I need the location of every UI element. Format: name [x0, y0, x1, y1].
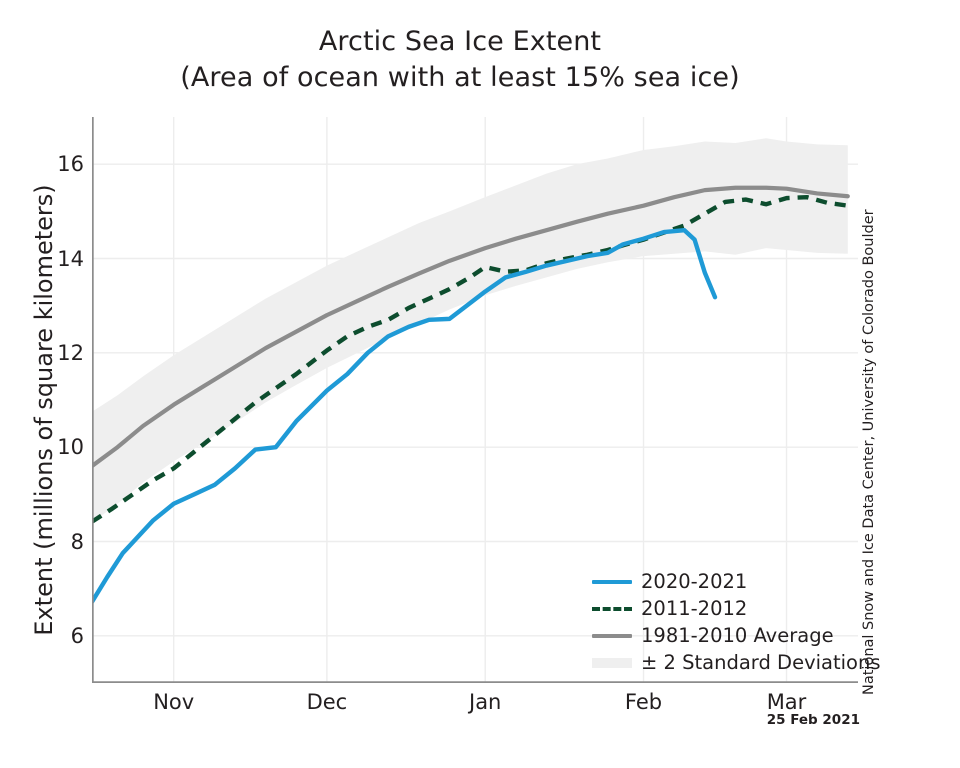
x-tick-label-mar: Mar	[727, 690, 847, 714]
legend-item-2-standard-deviations[interactable]: ± 2 Standard Deviations	[592, 649, 860, 676]
legend-label: ± 2 Standard Deviations	[641, 651, 880, 674]
chart-legend: 2020-20212011-20121981-2010 Average± 2 S…	[592, 568, 860, 676]
std-deviation-band	[92, 138, 848, 522]
x-tick-label-dec: Dec	[267, 690, 387, 714]
y-axis-ticks: 6810121416	[32, 117, 84, 683]
band-gray-icon	[592, 654, 632, 672]
y-tick-label-10: 10	[44, 435, 84, 459]
legend-swatch-mark	[592, 607, 632, 611]
line-dashed-green-icon	[592, 600, 632, 618]
x-tick-label-nov: Nov	[114, 690, 234, 714]
y-tick-label-8: 8	[44, 530, 84, 554]
legend-item-2011-2012[interactable]: 2011-2012	[592, 595, 860, 622]
attribution-credit: National Snow and Ice Data Center, Unive…	[861, 225, 877, 695]
title-line-1: Arctic Sea Ice Extent	[0, 24, 920, 60]
line-solid-gray-icon	[592, 627, 632, 645]
legend-item-1981-2010-average[interactable]: 1981-2010 Average	[592, 622, 860, 649]
line-solid-blue-icon	[592, 573, 632, 591]
y-tick-label-6: 6	[44, 624, 84, 648]
legend-swatch-mark	[592, 580, 632, 584]
legend-label: 1981-2010 Average	[641, 624, 834, 647]
date-stamp: 25 Feb 2021	[700, 712, 860, 728]
y-tick-label-14: 14	[44, 247, 84, 271]
y-tick-label-16: 16	[44, 152, 84, 176]
legend-item-2020-2021[interactable]: 2020-2021	[592, 568, 860, 595]
x-tick-label-jan: Jan	[425, 690, 545, 714]
legend-swatch-mark	[592, 634, 632, 638]
y-tick-label-12: 12	[44, 341, 84, 365]
legend-label: 2020-2021	[641, 570, 747, 593]
x-tick-label-feb: Feb	[584, 690, 704, 714]
page-title: Arctic Sea Ice Extent (Area of ocean wit…	[0, 24, 920, 96]
legend-swatch-mark	[592, 658, 632, 668]
chart-page: Arctic Sea Ice Extent (Area of ocean wit…	[0, 0, 960, 768]
legend-label: 2011-2012	[641, 597, 747, 620]
title-line-2: (Area of ocean with at least 15% sea ice…	[0, 60, 920, 96]
